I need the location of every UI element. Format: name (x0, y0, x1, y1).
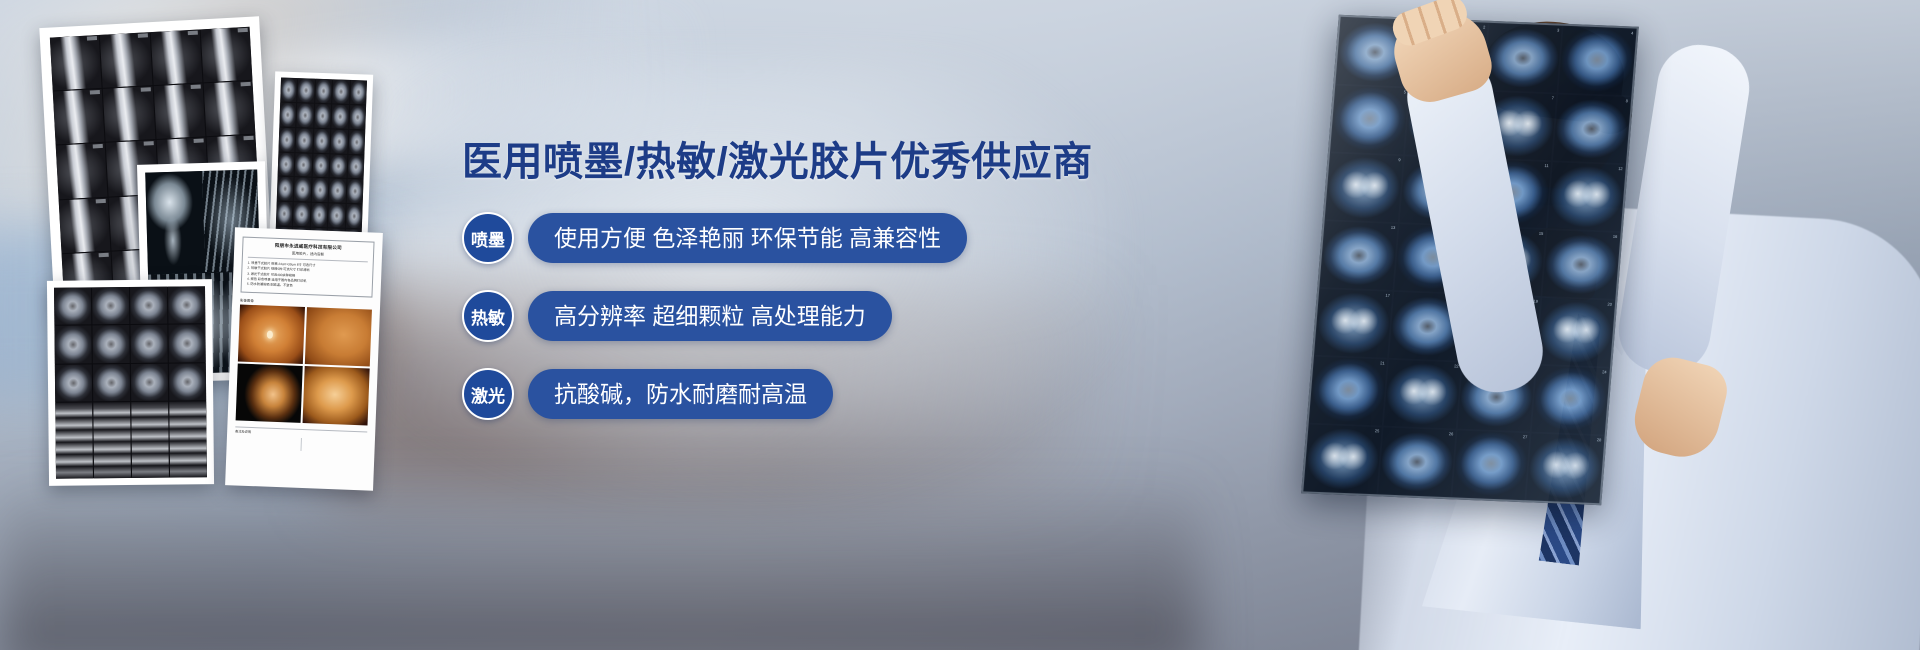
film-cell (329, 179, 346, 203)
report-image-grid (236, 305, 372, 426)
film-cell (100, 32, 152, 88)
film-plate (54, 286, 207, 479)
feature-pill-inkjet: 使用方便 色泽艳丽 环保节能 高兼容性 (528, 213, 967, 264)
film-cell (56, 143, 108, 199)
film-cell (55, 364, 92, 402)
film-cell (131, 363, 168, 401)
brain-axial-grid (54, 286, 206, 402)
feature-pill-thermal: 高分辨率 超细颗粒 高处理能力 (528, 291, 892, 342)
film-cell (169, 401, 207, 477)
held-film-cell: 22 (1384, 360, 1461, 429)
film-cell (311, 203, 328, 227)
film-cell (150, 30, 202, 86)
held-film-cell: 5 (1331, 86, 1408, 155)
film-cell (332, 104, 349, 128)
film-cell (130, 325, 167, 363)
film-cell (313, 128, 330, 152)
film-cell (103, 86, 155, 142)
lumbar-spine-grid (55, 401, 207, 479)
medical-film-collage: 阳朋市永进威医疗科技有限公司 医用胶片，述内容影 1. 喷墨干式胶片 规格 24… (0, 0, 420, 520)
feature-badge-thermal: 热敏 (462, 290, 514, 342)
feature-row-inkjet: 喷墨 使用方便 色泽艳丽 环保节能 高兼容性 (462, 212, 1102, 264)
printed-report-sheet: 阳朋市永进威医疗科技有限公司 医用胶片，述内容影 1. 喷墨干式胶片 规格 24… (225, 227, 383, 490)
film-cell (203, 81, 255, 137)
film-cell (312, 178, 329, 202)
film-cell (279, 102, 296, 126)
film-cell (298, 78, 315, 102)
film-cell (297, 103, 314, 127)
held-film-cell: 3 (1484, 24, 1561, 93)
doctor-photo: 1 2 3 4 5 6 7 8 9 10 11 12 13 14 15 16 1… (1060, 0, 1920, 650)
report-footer-cell (301, 438, 367, 454)
film-cell (293, 202, 310, 226)
film-cell (92, 325, 129, 363)
film-cell (330, 154, 347, 178)
film-cell (348, 130, 365, 154)
held-film-cell: 9 (1326, 153, 1403, 222)
film-cell (153, 84, 205, 140)
film-cell (93, 364, 130, 402)
banner-content: 医用喷墨/热敏/激光胶片优秀供应商 喷墨 使用方便 色泽艳丽 环保节能 高兼容性… (462, 140, 1102, 446)
film-cell (54, 326, 91, 364)
film-image-grid (275, 78, 367, 254)
held-film-cell: 20 (1537, 298, 1614, 367)
film-cell (280, 78, 297, 102)
held-film-cell: 16 (1542, 230, 1619, 299)
hero-banner: 阳朋市永进威医疗科技有限公司 医用胶片，述内容影 1. 喷墨干式胶片 规格 24… (0, 0, 1920, 650)
report-footer-table: 备注及说明 (235, 427, 368, 453)
feature-badge-inkjet: 喷墨 (462, 212, 514, 264)
held-film-cell: 26 (1378, 428, 1455, 497)
film-cell (332, 79, 349, 103)
held-film-cell: 4 (1558, 27, 1635, 96)
film-cell (53, 89, 105, 145)
fundus-photo-right (305, 307, 372, 366)
report-spec-lines: 1. 喷墨干式胶片 规格 24cm×30cm 8寸 可选尺寸 2. 热敏干式胶片… (247, 261, 368, 292)
feature-list: 喷墨 使用方便 色泽艳丽 环保节能 高兼容性 热敏 高分辨率 超细颗粒 高处理能… (462, 212, 1102, 420)
film-cell (346, 179, 363, 203)
film-cell (350, 80, 367, 104)
held-film-cell: 28 (1526, 433, 1603, 502)
film-cell (277, 177, 294, 201)
held-film-cell: 25 (1304, 425, 1381, 494)
film-cell (168, 286, 205, 324)
held-film-cell: 17 (1315, 289, 1392, 358)
film-cell (278, 152, 295, 176)
held-film-cell: 24 (1532, 366, 1609, 435)
film-cell (349, 105, 366, 129)
film-plate (275, 78, 367, 254)
film-cell (55, 402, 93, 478)
ultrasound-photo-left (236, 364, 303, 423)
report-footer-cell (235, 435, 302, 451)
film-cell (92, 287, 129, 325)
fundus-photo-left (238, 305, 305, 364)
film-cell (59, 197, 111, 253)
held-film-cell: 8 (1553, 95, 1630, 164)
film-cell (312, 153, 329, 177)
film-cell (169, 363, 206, 401)
film-cell (200, 27, 252, 83)
held-film-cell: 12 (1548, 162, 1625, 231)
feature-pill-laser: 抗酸碱，防水耐磨耐高温 (528, 369, 833, 420)
film-sheet-brain-mri (47, 279, 214, 486)
film-cell (131, 402, 169, 478)
film-cell (50, 35, 102, 91)
film-cell (54, 287, 91, 325)
film-cell (345, 204, 362, 228)
report-header-box: 阳朋市永进威医疗科技有限公司 医用胶片，述内容影 1. 喷墨干式胶片 规格 24… (240, 237, 374, 298)
feature-badge-laser: 激光 (462, 368, 514, 420)
held-film-cell: 13 (1320, 221, 1397, 290)
film-cell (93, 402, 131, 478)
feature-row-thermal: 热敏 高分辨率 超细颗粒 高处理能力 (462, 290, 1102, 342)
film-cell (314, 104, 331, 128)
film-cell (295, 153, 312, 177)
film-cell (328, 204, 345, 228)
held-film-cell: 21 (1310, 357, 1387, 426)
ultrasound-photo-right (303, 366, 370, 425)
xray-skull-image (145, 171, 203, 273)
film-cell (315, 79, 332, 103)
film-cell (296, 128, 313, 152)
film-cell (168, 325, 205, 363)
film-cell (331, 129, 348, 153)
film-cell (294, 178, 311, 202)
held-film-cell: 27 (1452, 431, 1529, 500)
film-cell (130, 287, 167, 325)
film-cell (347, 154, 364, 178)
page-title: 医用喷墨/热敏/激光胶片优秀供应商 (462, 140, 1102, 184)
film-cell (276, 202, 293, 226)
feature-row-laser: 激光 抗酸碱，防水耐磨耐高温 (462, 368, 1102, 420)
film-cell (278, 127, 295, 151)
